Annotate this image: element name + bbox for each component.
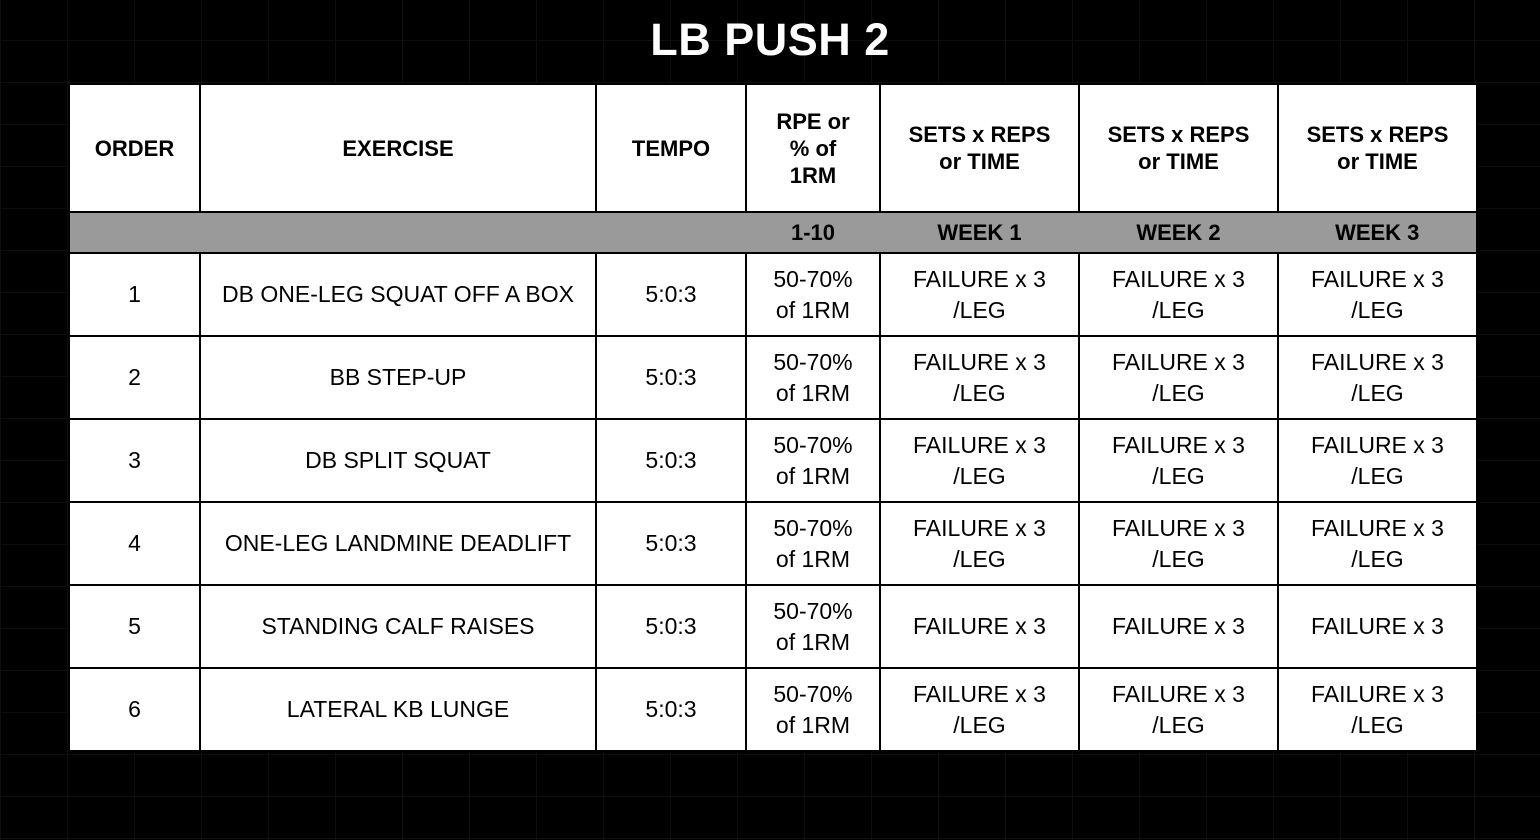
cell-week2: FAILURE x 3/LEG — [1079, 668, 1278, 751]
column-header-week1-line2: or TIME — [885, 148, 1074, 175]
cell-rpe: 50-70%of 1RM — [746, 336, 880, 419]
cell-order: 1 — [69, 253, 200, 336]
column-header-week1: SETS x REPS or TIME — [880, 84, 1079, 212]
cell-rpe-line2: of 1RM — [751, 710, 875, 741]
cell-week3-line1: FAILURE x 3 — [1283, 611, 1472, 642]
subheader-rpe-scale: 1-10 — [746, 212, 880, 253]
cell-order: 4 — [69, 502, 200, 585]
cell-tempo: 5:0:3 — [596, 585, 746, 668]
cell-exercise: DB SPLIT SQUAT — [200, 419, 596, 502]
cell-week1: FAILURE x 3/LEG — [880, 668, 1079, 751]
column-header-order: ORDER — [69, 84, 200, 212]
cell-rpe-line1: 50-70% — [751, 347, 875, 378]
header-row: ORDER EXERCISE TEMPO RPE or % of 1RM SET… — [69, 84, 1477, 212]
cell-week1-line2: /LEG — [885, 710, 1074, 741]
page-title: LB PUSH 2 — [0, 12, 1540, 68]
subheader-row: 1-10 WEEK 1 WEEK 2 WEEK 3 — [69, 212, 1477, 253]
cell-week3-line1: FAILURE x 3 — [1283, 679, 1472, 710]
cell-week3-line2: /LEG — [1283, 544, 1472, 575]
cell-week2-line1: FAILURE x 3 — [1084, 347, 1273, 378]
cell-tempo: 5:0:3 — [596, 336, 746, 419]
cell-exercise: BB STEP-UP — [200, 336, 596, 419]
cell-week3-line2: /LEG — [1283, 710, 1472, 741]
cell-week2-line1: FAILURE x 3 — [1084, 679, 1273, 710]
cell-rpe-line2: of 1RM — [751, 295, 875, 326]
cell-tempo: 5:0:3 — [596, 253, 746, 336]
subheader-exercise — [200, 212, 596, 253]
table-row: 1DB ONE-LEG SQUAT OFF A BOX5:0:350-70%of… — [69, 253, 1477, 336]
table-row: 6LATERAL KB LUNGE5:0:350-70%of 1RMFAILUR… — [69, 668, 1477, 751]
workout-table: ORDER EXERCISE TEMPO RPE or % of 1RM SET… — [68, 83, 1478, 752]
cell-week3: FAILURE x 3/LEG — [1278, 253, 1477, 336]
cell-week1-line1: FAILURE x 3 — [885, 347, 1074, 378]
column-header-week2-line1: SETS x REPS — [1084, 121, 1273, 148]
cell-week3-line2: /LEG — [1283, 378, 1472, 409]
subheader-tempo — [596, 212, 746, 253]
cell-week1-line2: /LEG — [885, 295, 1074, 326]
cell-rpe: 50-70%of 1RM — [746, 502, 880, 585]
workout-sheet-page: LB PUSH 2 ORDER EXERCISE TEMPO RPE or % … — [0, 0, 1540, 840]
column-header-week1-line1: SETS x REPS — [885, 121, 1074, 148]
cell-week1-line1: FAILURE x 3 — [885, 430, 1074, 461]
cell-week3: FAILURE x 3/LEG — [1278, 502, 1477, 585]
cell-week1: FAILURE x 3/LEG — [880, 253, 1079, 336]
cell-week1: FAILURE x 3 — [880, 585, 1079, 668]
table-row: 2BB STEP-UP5:0:350-70%of 1RMFAILURE x 3/… — [69, 336, 1477, 419]
cell-week1: FAILURE x 3/LEG — [880, 336, 1079, 419]
cell-week2-line1: FAILURE x 3 — [1084, 513, 1273, 544]
cell-week2-line2: /LEG — [1084, 295, 1273, 326]
cell-week2: FAILURE x 3/LEG — [1079, 419, 1278, 502]
cell-week3: FAILURE x 3/LEG — [1278, 668, 1477, 751]
cell-week3-line1: FAILURE x 3 — [1283, 347, 1472, 378]
cell-week1-line2: /LEG — [885, 461, 1074, 492]
cell-week2: FAILURE x 3/LEG — [1079, 253, 1278, 336]
cell-week3-line2: /LEG — [1283, 461, 1472, 492]
column-header-tempo: TEMPO — [596, 84, 746, 212]
cell-rpe: 50-70%of 1RM — [746, 253, 880, 336]
cell-week1: FAILURE x 3/LEG — [880, 502, 1079, 585]
subheader-order — [69, 212, 200, 253]
column-header-exercise: EXERCISE — [200, 84, 596, 212]
cell-rpe-line2: of 1RM — [751, 627, 875, 658]
cell-week1-line1: FAILURE x 3 — [885, 513, 1074, 544]
cell-week3: FAILURE x 3/LEG — [1278, 336, 1477, 419]
cell-week2-line2: /LEG — [1084, 378, 1273, 409]
cell-week2: FAILURE x 3/LEG — [1079, 502, 1278, 585]
cell-order: 2 — [69, 336, 200, 419]
cell-week3-line1: FAILURE x 3 — [1283, 513, 1472, 544]
column-header-week2-line2: or TIME — [1084, 148, 1273, 175]
cell-rpe-line1: 50-70% — [751, 430, 875, 461]
cell-week3: FAILURE x 3 — [1278, 585, 1477, 668]
column-header-week3-line1: SETS x REPS — [1283, 121, 1472, 148]
cell-week3-line1: FAILURE x 3 — [1283, 264, 1472, 295]
cell-week2-line2: /LEG — [1084, 461, 1273, 492]
cell-rpe-line1: 50-70% — [751, 596, 875, 627]
cell-week1-line2: /LEG — [885, 544, 1074, 575]
subheader-week1: WEEK 1 — [880, 212, 1079, 253]
cell-exercise: LATERAL KB LUNGE — [200, 668, 596, 751]
column-header-week2: SETS x REPS or TIME — [1079, 84, 1278, 212]
column-header-week3-line2: or TIME — [1283, 148, 1472, 175]
cell-rpe: 50-70%of 1RM — [746, 668, 880, 751]
cell-rpe-line2: of 1RM — [751, 544, 875, 575]
cell-order: 6 — [69, 668, 200, 751]
cell-week2: FAILURE x 3 — [1079, 585, 1278, 668]
cell-rpe-line2: of 1RM — [751, 378, 875, 409]
cell-week1: FAILURE x 3/LEG — [880, 419, 1079, 502]
cell-week1-line1: FAILURE x 3 — [885, 611, 1074, 642]
cell-week2-line1: FAILURE x 3 — [1084, 430, 1273, 461]
cell-week1-line1: FAILURE x 3 — [885, 679, 1074, 710]
cell-tempo: 5:0:3 — [596, 668, 746, 751]
cell-rpe-line1: 50-70% — [751, 679, 875, 710]
column-header-rpe-line1: RPE or — [751, 108, 875, 135]
cell-week3-line1: FAILURE x 3 — [1283, 430, 1472, 461]
cell-tempo: 5:0:3 — [596, 502, 746, 585]
cell-order: 5 — [69, 585, 200, 668]
column-header-rpe-line3: 1RM — [751, 162, 875, 189]
table-header: ORDER EXERCISE TEMPO RPE or % of 1RM SET… — [69, 84, 1477, 253]
table-row: 5STANDING CALF RAISES5:0:350-70%of 1RMFA… — [69, 585, 1477, 668]
table-row: 3DB SPLIT SQUAT5:0:350-70%of 1RMFAILURE … — [69, 419, 1477, 502]
cell-rpe: 50-70%of 1RM — [746, 585, 880, 668]
subheader-week2: WEEK 2 — [1079, 212, 1278, 253]
cell-tempo: 5:0:3 — [596, 419, 746, 502]
cell-exercise: ONE-LEG LANDMINE DEADLIFT — [200, 502, 596, 585]
cell-rpe: 50-70%of 1RM — [746, 419, 880, 502]
table-body: 1DB ONE-LEG SQUAT OFF A BOX5:0:350-70%of… — [69, 253, 1477, 751]
cell-week3: FAILURE x 3/LEG — [1278, 419, 1477, 502]
cell-exercise: STANDING CALF RAISES — [200, 585, 596, 668]
cell-rpe-line1: 50-70% — [751, 513, 875, 544]
workout-table-container: ORDER EXERCISE TEMPO RPE or % of 1RM SET… — [68, 83, 1476, 752]
cell-week2: FAILURE x 3/LEG — [1079, 336, 1278, 419]
cell-order: 3 — [69, 419, 200, 502]
cell-week2-line1: FAILURE x 3 — [1084, 264, 1273, 295]
column-header-rpe-line2: % of — [751, 135, 875, 162]
cell-week3-line2: /LEG — [1283, 295, 1472, 326]
column-header-rpe: RPE or % of 1RM — [746, 84, 880, 212]
cell-week1-line2: /LEG — [885, 378, 1074, 409]
cell-week2-line2: /LEG — [1084, 710, 1273, 741]
cell-week2-line2: /LEG — [1084, 544, 1273, 575]
table-row: 4ONE-LEG LANDMINE DEADLIFT5:0:350-70%of … — [69, 502, 1477, 585]
cell-rpe-line2: of 1RM — [751, 461, 875, 492]
column-header-week3: SETS x REPS or TIME — [1278, 84, 1477, 212]
subheader-week3: WEEK 3 — [1278, 212, 1477, 253]
cell-week1-line1: FAILURE x 3 — [885, 264, 1074, 295]
cell-week2-line1: FAILURE x 3 — [1084, 611, 1273, 642]
cell-exercise: DB ONE-LEG SQUAT OFF A BOX — [200, 253, 596, 336]
cell-rpe-line1: 50-70% — [751, 264, 875, 295]
